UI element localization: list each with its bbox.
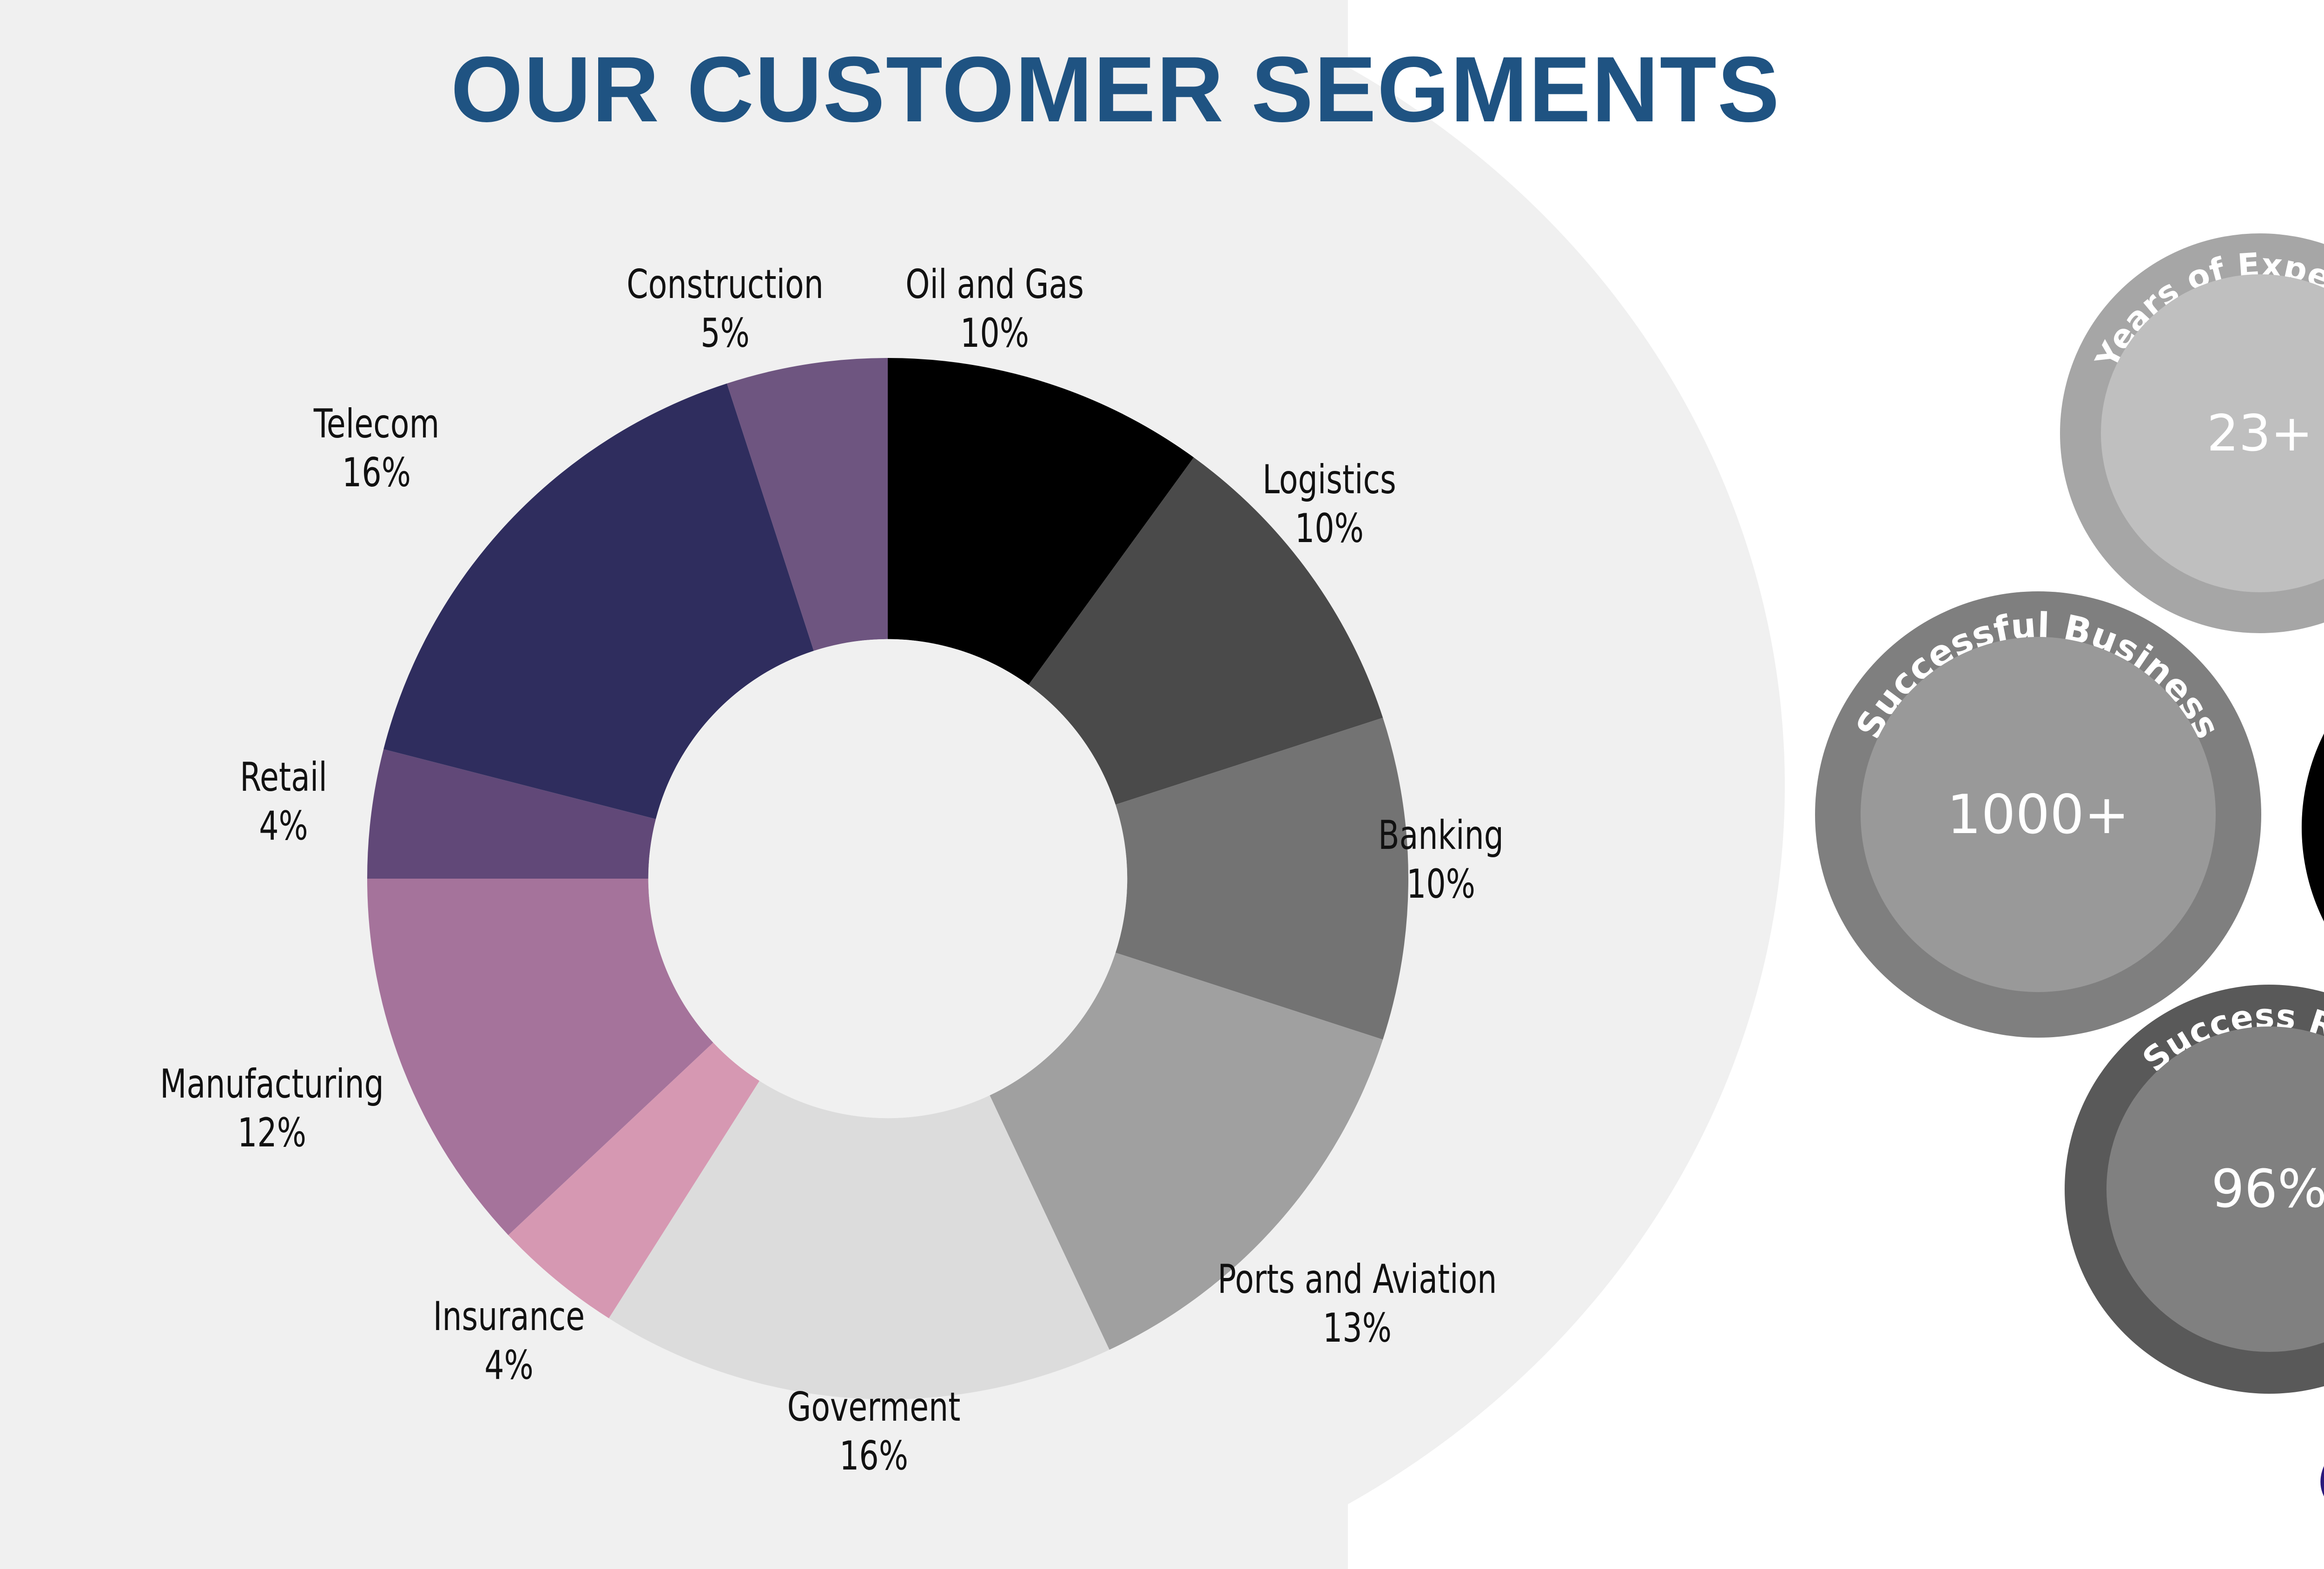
slide-canvas: OUR CUSTOMER SEGMENTS Construction 5% Oi… bbox=[0, 0, 2324, 1569]
donut-label-manufacturing: Manufacturing 12% bbox=[132, 1060, 412, 1158]
donut-label-logistics: Logistics 10% bbox=[1202, 456, 1457, 553]
donut-label-oil-and-gas-name: Oil and Gas bbox=[905, 261, 1084, 308]
stat-badge-customer-satisfaction[interactable]: Customer Satisfaction 99% bbox=[2302, 618, 2324, 1037]
donut-label-retail-pct: 4% bbox=[184, 802, 383, 851]
donut-label-logistics-pct: 10% bbox=[1202, 504, 1457, 553]
donut-label-retail-name: Retail bbox=[240, 754, 327, 801]
donut-label-telecom-name: Telecom bbox=[314, 401, 440, 447]
stat-badge-successful-business[interactable]: Successful Business 1000+ bbox=[1815, 591, 2261, 1038]
successful-business-inner-disc: 1000+ bbox=[1861, 637, 2216, 992]
donut-label-construction-name: Construction bbox=[627, 261, 824, 308]
page-title: OUR CUSTOMER SEGMENTS bbox=[0, 41, 2231, 139]
stat-badge-years-of-experience[interactable]: Years of Experience 23+ bbox=[2060, 233, 2324, 633]
donut-label-banking-pct: 10% bbox=[1313, 860, 1569, 909]
stat-caption-customer-satisfaction: Customer Satisfaction bbox=[2320, 630, 2324, 788]
donut-label-banking: Banking 10% bbox=[1313, 811, 1569, 909]
stat-value-successful-business: 1000+ bbox=[1947, 783, 2129, 846]
donut-label-goverment-name: Goverment bbox=[787, 1384, 961, 1430]
donut-label-logistics-name: Logistics bbox=[1262, 457, 1396, 503]
donut-center-hole bbox=[648, 639, 1127, 1118]
donut-label-goverment: Goverment 16% bbox=[734, 1383, 1014, 1481]
stat-value-success-rate: 96% bbox=[2212, 1159, 2324, 1219]
donut-label-construction-pct: 5% bbox=[597, 309, 853, 358]
donut-label-telecom: Telecom 16% bbox=[249, 400, 504, 497]
years-of-experience-inner-disc: 23+ bbox=[2101, 274, 2324, 592]
stat-value-years-of-experience: 23+ bbox=[2207, 404, 2313, 463]
donut-label-oil-and-gas-pct: 10% bbox=[867, 309, 1122, 358]
donut-label-ports-and-aviation-name: Ports and Aviation bbox=[1218, 1256, 1497, 1303]
customer-satisfaction-caption-arc: Customer Satisfaction bbox=[2302, 618, 2324, 1037]
donut-label-banking-name: Banking bbox=[1378, 812, 1504, 859]
donut-label-goverment-pct: 16% bbox=[734, 1432, 1014, 1481]
donut-label-telecom-pct: 16% bbox=[249, 449, 504, 497]
success-rate-inner-disc: 96% bbox=[2106, 1026, 2324, 1352]
svg-text:Customer Satisfaction: Customer Satisfaction bbox=[2320, 630, 2324, 788]
donut-label-insurance-name: Insurance bbox=[433, 1293, 585, 1340]
expert-logo[interactable]: xpert bbox=[2317, 1432, 2324, 1530]
donut-label-insurance-pct: 4% bbox=[381, 1341, 637, 1390]
stat-badge-success-rate[interactable]: Success Rate 96% bbox=[2065, 985, 2324, 1394]
donut-label-ports-and-aviation: Ports and Aviation 13% bbox=[1177, 1255, 1537, 1353]
donut-label-retail: Retail 4% bbox=[184, 753, 383, 851]
donut-label-construction: Construction 5% bbox=[597, 260, 853, 358]
donut-label-manufacturing-name: Manufacturing bbox=[160, 1061, 384, 1107]
donut-label-insurance: Insurance 4% bbox=[381, 1292, 637, 1390]
donut-label-ports-and-aviation-pct: 13% bbox=[1177, 1304, 1537, 1353]
expert-logo-e-mark bbox=[2317, 1432, 2324, 1516]
donut-label-oil-and-gas: Oil and Gas 10% bbox=[867, 260, 1122, 358]
donut-label-manufacturing-pct: 12% bbox=[132, 1109, 412, 1158]
